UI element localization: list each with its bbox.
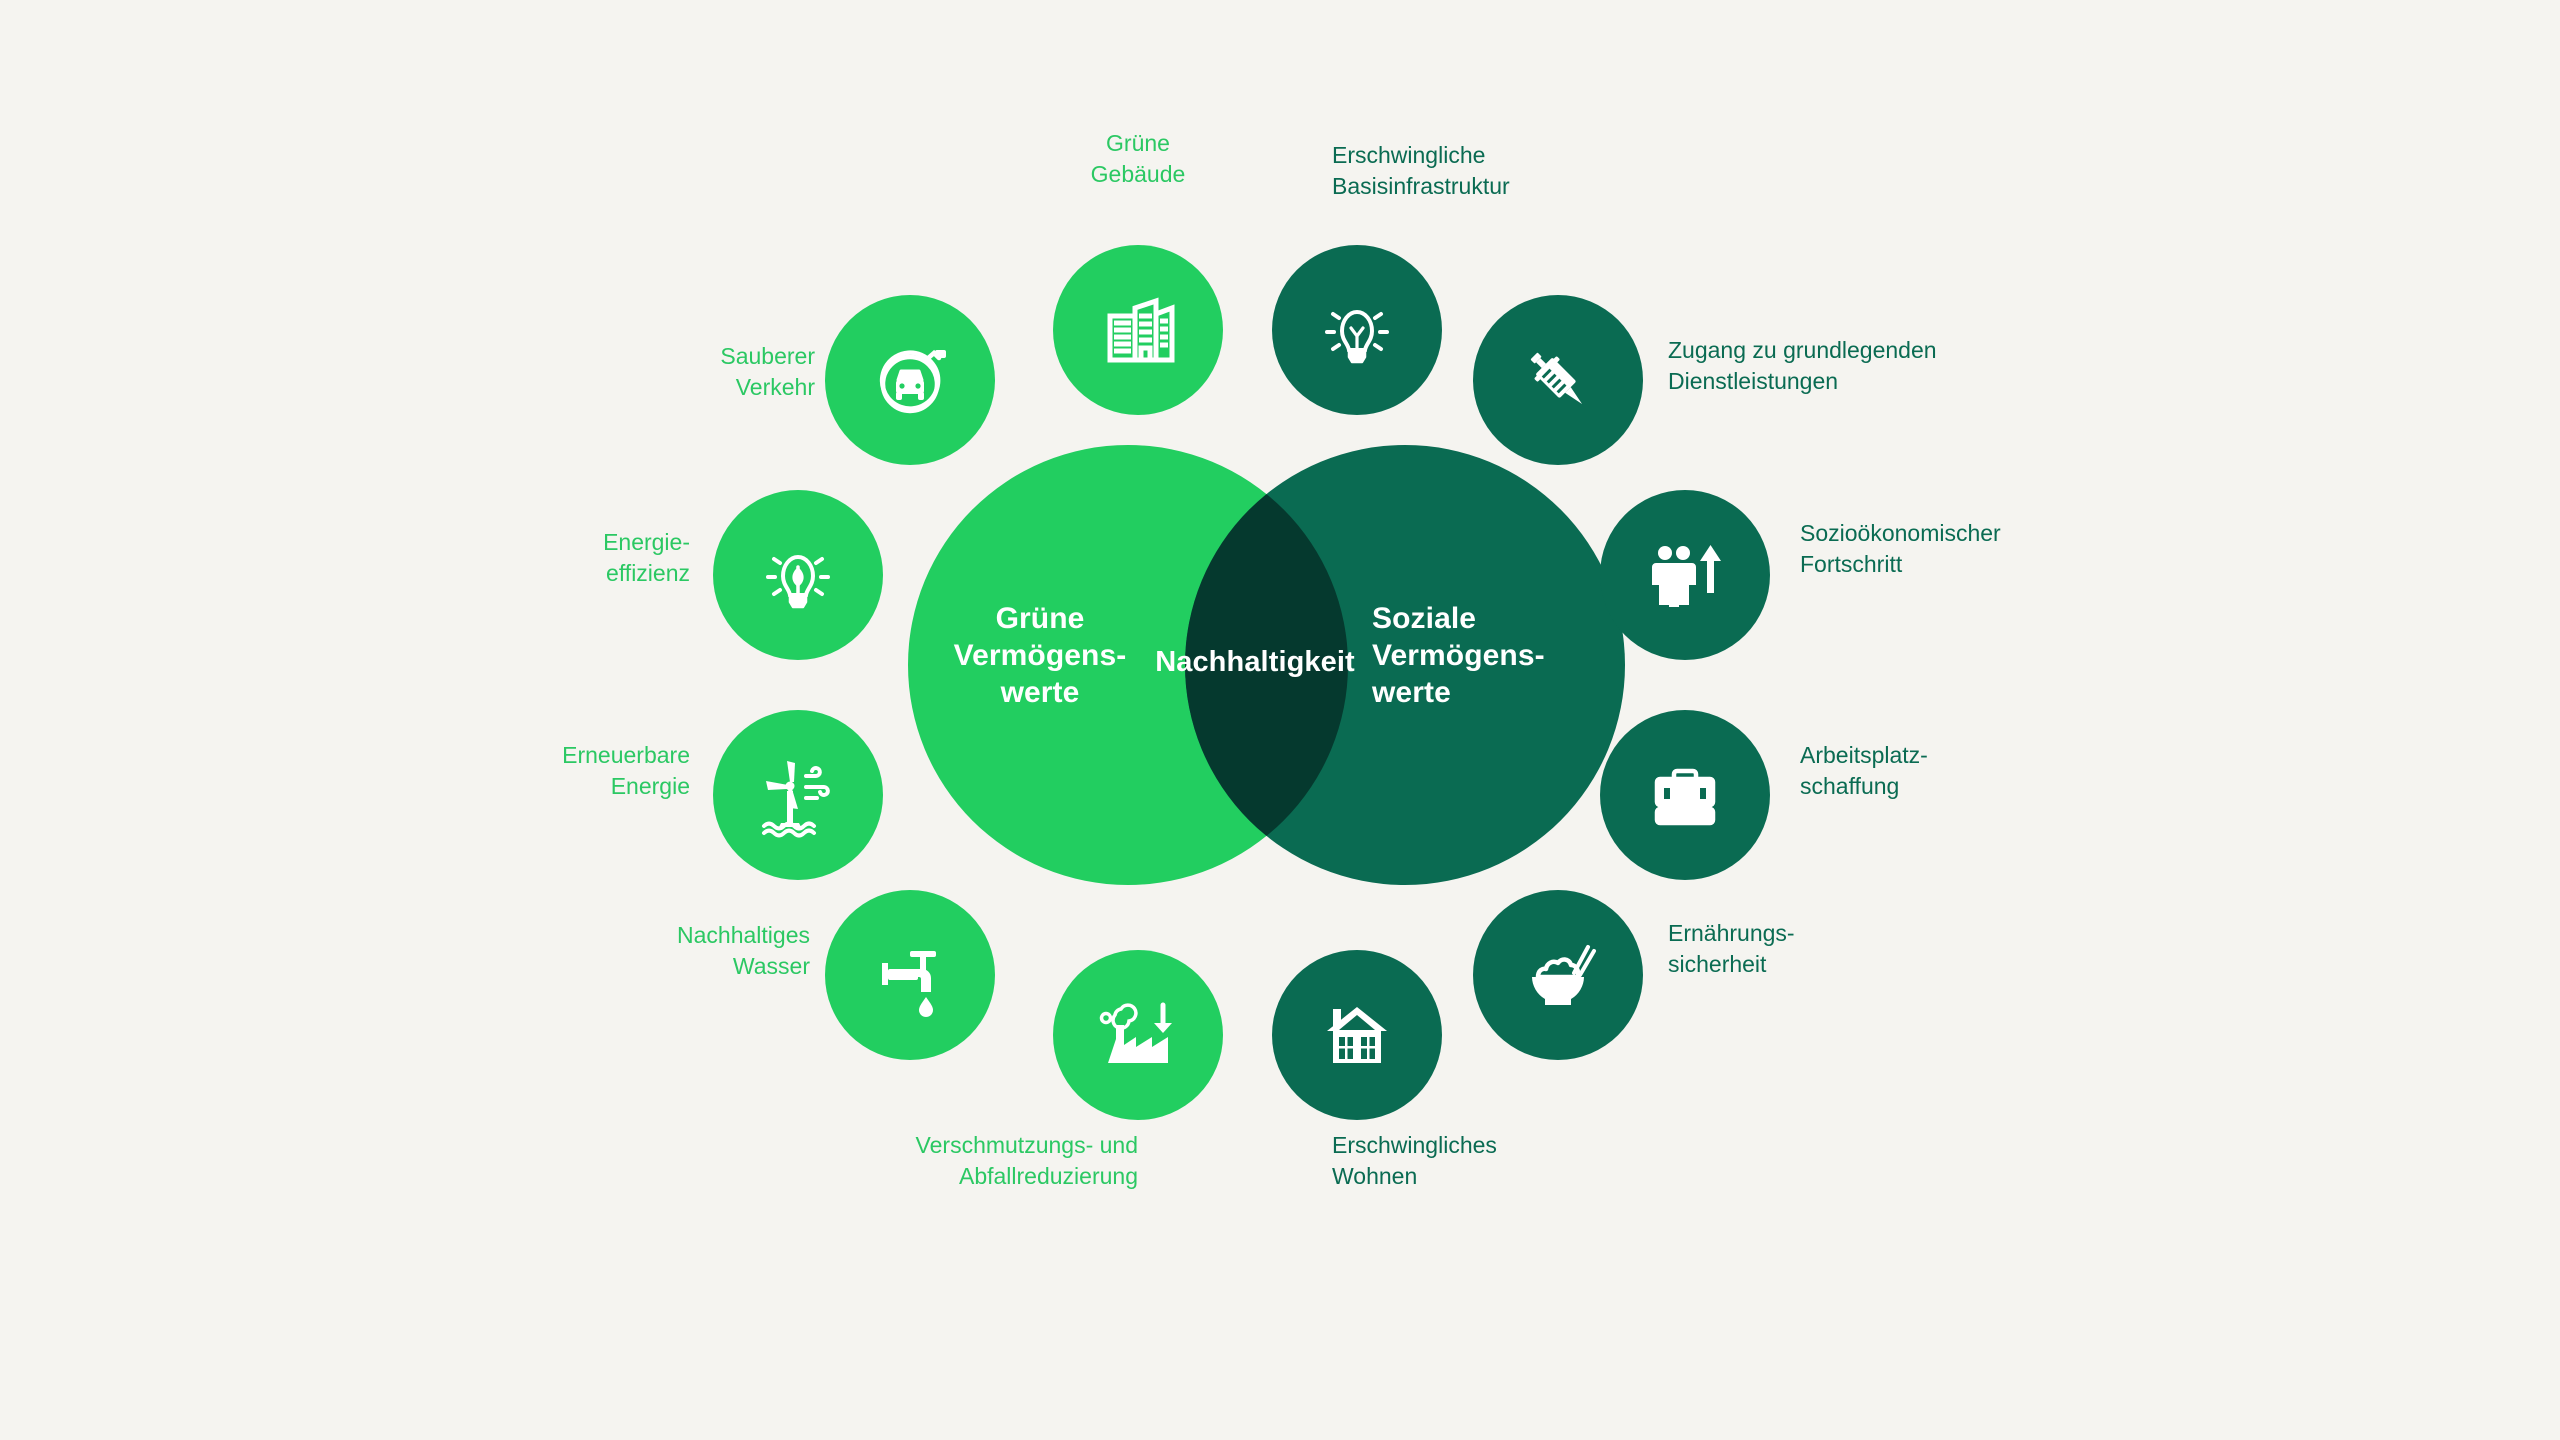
node-label-energy-efficiency: Energie- effizienz (470, 527, 690, 588)
node-label-food-security: Ernährungs- sicherheit (1668, 918, 1968, 979)
node-socioeconomic-progress[interactable] (1600, 490, 1770, 660)
venn-label-sustainability: Nachhaltigkeit (1143, 645, 1367, 681)
node-energy-efficiency[interactable] (713, 490, 883, 660)
node-green-buildings[interactable] (1053, 245, 1223, 415)
faucet-drop-icon (868, 933, 952, 1017)
node-label-sustainable-water: Nachhaltiges Wasser (560, 920, 810, 981)
house-icon (1315, 993, 1399, 1077)
node-label-socioeconomic-progress: Sozioökonomischer Fortschritt (1800, 518, 2130, 579)
node-label-basic-infrastructure: Erschwingliche Basisinfrastruktur (1332, 140, 1662, 201)
node-label-job-creation: Arbeitsplatz- schaffung (1800, 740, 2100, 801)
briefcase-icon (1643, 753, 1727, 837)
node-renewable-energy[interactable] (713, 710, 883, 880)
node-clean-transport[interactable] (825, 295, 995, 465)
venn-label-social-assets: Soziale Vermögens- werte (1372, 600, 1572, 712)
node-affordable-housing[interactable] (1272, 950, 1442, 1120)
venn-label-green-assets: Grüne Vermögens- werte (945, 600, 1135, 712)
wind-turbine-icon (754, 751, 842, 839)
node-food-security[interactable] (1473, 890, 1643, 1060)
node-label-affordable-housing: Erschwingliches Wohnen (1332, 1130, 1632, 1191)
node-label-pollution-waste: Verschmutzungs- und Abfallreduzierung (828, 1130, 1138, 1191)
electric-car-icon (868, 338, 952, 422)
node-label-green-buildings: Grüne Gebäude (1008, 128, 1268, 189)
syringe-icon (1516, 338, 1600, 422)
node-label-clean-transport: Sauberer Verkehr (595, 341, 815, 402)
node-basic-infrastructure[interactable] (1272, 245, 1442, 415)
node-label-basic-services: Zugang zu grundlegenden Dienstleistungen (1668, 335, 2028, 396)
bulb-leaf-icon (756, 533, 840, 617)
family-arrow-up-icon (1643, 533, 1727, 617)
node-sustainable-water[interactable] (825, 890, 995, 1060)
node-basic-services[interactable] (1473, 295, 1643, 465)
infographic-canvas: Grüne Vermögens- werte Nachhaltigkeit So… (0, 0, 2560, 1440)
lightbulb-icon (1315, 288, 1399, 372)
node-label-renewable-energy: Erneuerbare Energie (440, 740, 690, 801)
buildings-icon (1096, 288, 1180, 372)
node-pollution-waste[interactable] (1053, 950, 1223, 1120)
rice-bowl-chopsticks-icon (1516, 933, 1600, 1017)
factory-down-arrow-icon (1094, 991, 1182, 1079)
node-job-creation[interactable] (1600, 710, 1770, 880)
